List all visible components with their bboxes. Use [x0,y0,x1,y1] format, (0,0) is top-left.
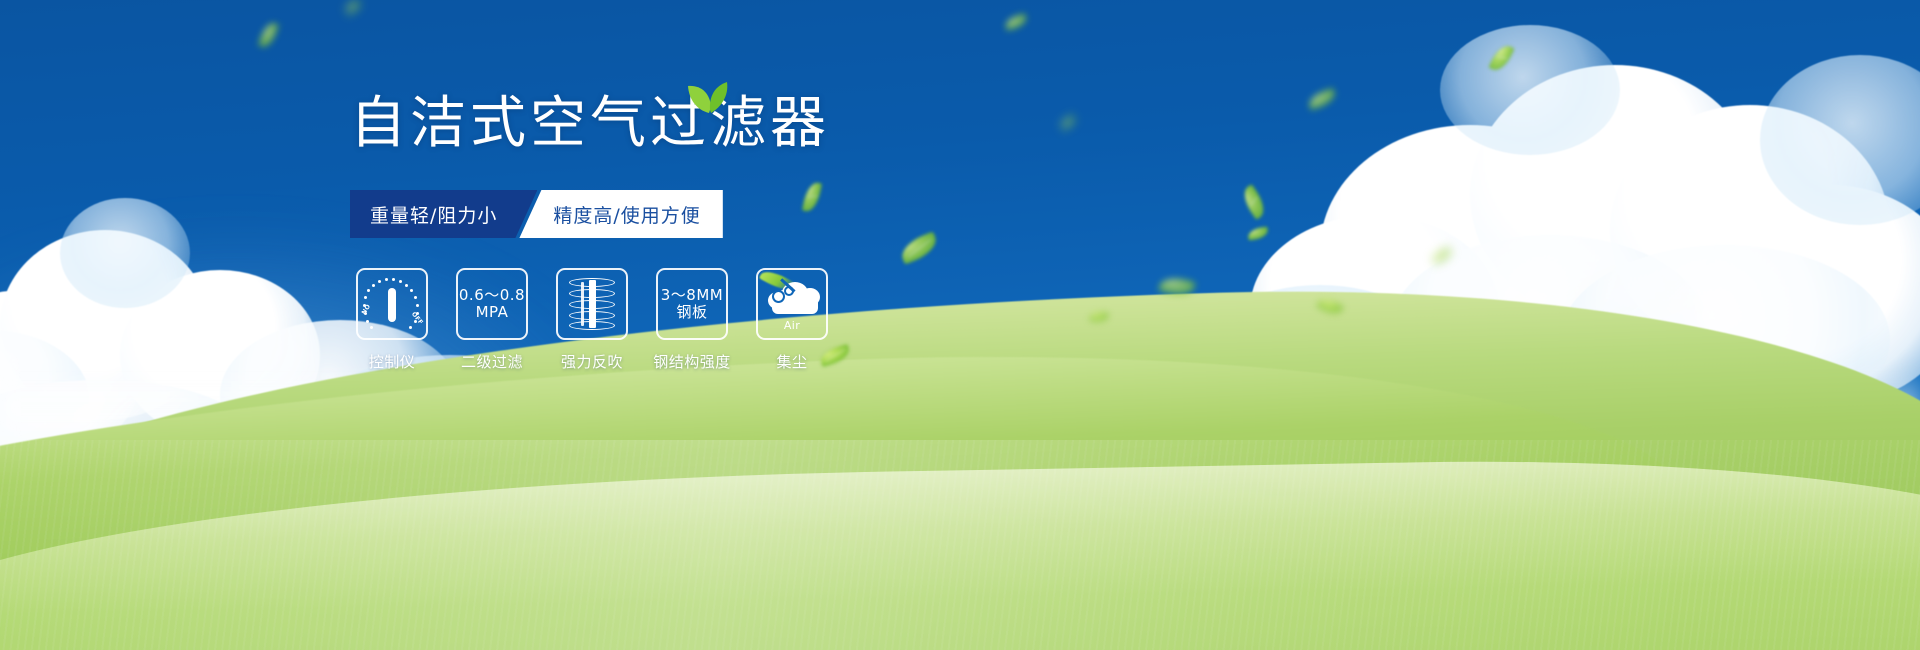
feature-item-backblow[interactable]: 强力反吹 [556,268,628,372]
plate-line-1: 3～8MM [661,287,723,304]
gauge-icon: NO OFF [362,276,422,332]
feature-item-controller[interactable]: NO OFF 控制仪 [356,268,428,372]
feature-caption-dust: 集尘 [776,351,807,372]
feature-caption-backblow: 强力反吹 [561,351,623,372]
feature-caption-filtration: 二级过滤 [461,351,523,372]
grass-field [0,350,1920,650]
tab-precision-ease[interactable]: 精度高/使用方便 [519,190,722,238]
feature-tabs: 重量轻/阻力小 精度高/使用方便 [350,190,723,238]
page-title: 自洁式空气过滤器 [350,96,1090,152]
feature-item-steel[interactable]: 3～8MM 钢板 钢结构强度 [656,268,728,372]
air-label: Air [762,319,822,332]
feature-box-controller: NO OFF [356,268,428,340]
feature-box-filtration: 0.6～0.8 MPA [456,268,528,340]
hero-banner: 自洁式空气过滤器 重量轻/阻力小 精度高/使用方便 [0,0,1920,650]
coil-icon [569,278,615,330]
pressure-line-2: MPA [459,304,525,321]
feature-box-steel: 3～8MM 钢板 [656,268,728,340]
plate-text-icon: 3～8MM 钢板 [661,287,723,321]
feature-item-filtration[interactable]: 0.6～0.8 MPA 二级过滤 [456,268,528,372]
feature-item-dust[interactable]: Air 集尘 [756,268,828,372]
feature-caption-controller: 控制仪 [369,351,416,372]
feature-box-backblow [556,268,628,340]
cloud-air-icon: Air [762,278,822,330]
pressure-text-icon: 0.6～0.8 MPA [459,287,525,321]
plate-line-2: 钢板 [661,304,723,321]
gauge-label-off: OFF [410,311,424,327]
pressure-line-1: 0.6～0.8 [459,287,525,304]
gauge-needle [388,288,396,322]
hero-content: 自洁式空气过滤器 重量轻/阻力小 精度高/使用方便 [350,96,1090,152]
feature-list: NO OFF 控制仪 0.6～0.8 MPA 二级过滤 [356,268,828,372]
feature-box-dust: Air [756,268,828,340]
feature-caption-steel: 钢结构强度 [653,351,731,372]
tab-weight-resistance[interactable]: 重量轻/阻力小 [350,190,537,238]
grass-sheen [0,440,1920,650]
